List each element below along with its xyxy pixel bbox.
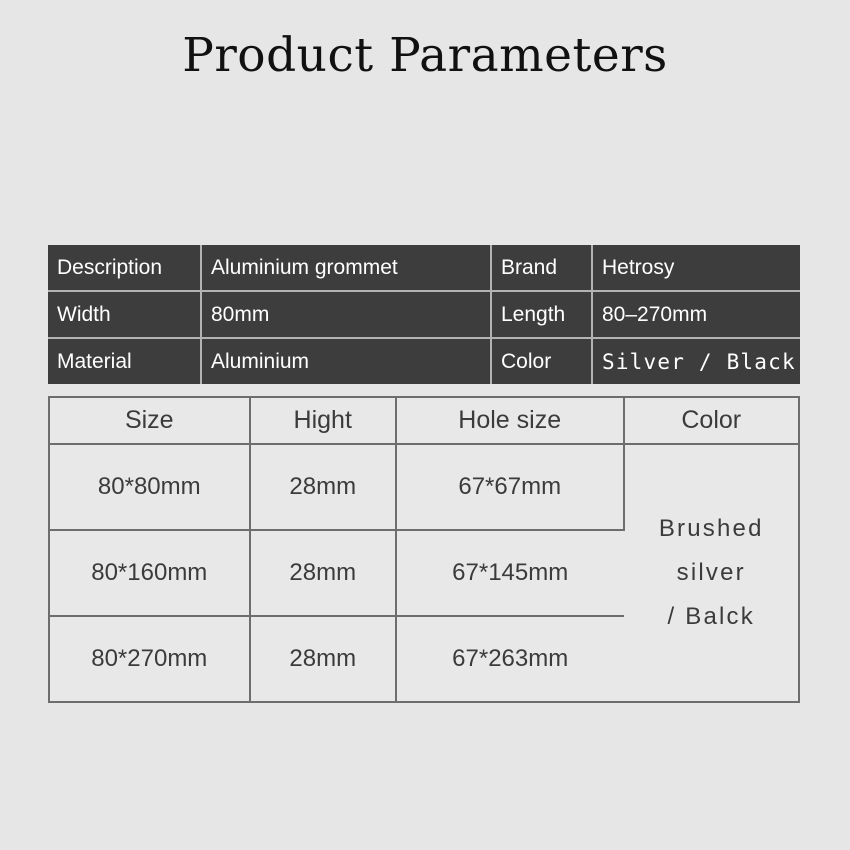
table-row: Description Aluminium grommet Brand Hetr…	[48, 245, 800, 291]
column-header-hole-size: Hole size	[396, 397, 624, 444]
page-title: Product Parameters	[0, 26, 850, 86]
cell-hight: 28mm	[250, 444, 396, 530]
cell-hight: 28mm	[250, 616, 396, 702]
size-table-header-row: Size Hight Hole size Color	[49, 397, 799, 444]
cell-color-merged: Brushed silver / Balck	[624, 444, 800, 702]
cell-size: 80*80mm	[49, 444, 250, 530]
table-row: 80*80mm 28mm 67*67mm Brushed silver / Ba…	[49, 444, 799, 530]
cell-hole-size: 67*67mm	[396, 444, 624, 530]
spec-value-material: Aluminium	[201, 338, 491, 384]
cell-size: 80*270mm	[49, 616, 250, 702]
spec-key-brand: Brand	[491, 245, 592, 291]
cell-size: 80*160mm	[49, 530, 250, 616]
spec-value-color: Silver / Black	[592, 338, 800, 384]
spec-value-length: 80–270mm	[592, 291, 800, 338]
cell-hight: 28mm	[250, 530, 396, 616]
cell-hole-size: 67*263mm	[396, 616, 624, 702]
spec-value-description: Aluminium grommet	[201, 245, 491, 291]
spec-value-width: 80mm	[201, 291, 491, 338]
column-header-color: Color	[624, 397, 800, 444]
color-line-3: / Balck	[625, 595, 799, 639]
column-header-hight: Hight	[250, 397, 396, 444]
spec-key-width: Width	[48, 291, 201, 338]
column-header-size: Size	[49, 397, 250, 444]
color-line-2: silver	[625, 551, 799, 595]
table-row: Material Aluminium Color Silver / Black	[48, 338, 800, 384]
cell-hole-size: 67*145mm	[396, 530, 624, 616]
spec-key-material: Material	[48, 338, 201, 384]
spec-key-length: Length	[491, 291, 592, 338]
spec-key-description: Description	[48, 245, 201, 291]
table-row: Width 80mm Length 80–270mm	[48, 291, 800, 338]
spec-key-color: Color	[491, 338, 592, 384]
spec-value-brand: Hetrosy	[592, 245, 800, 291]
product-specification-table: Description Aluminium grommet Brand Hetr…	[48, 245, 800, 384]
color-line-1: Brushed	[625, 507, 799, 551]
size-chart-table: Size Hight Hole size Color 80*80mm 28mm …	[48, 396, 800, 703]
